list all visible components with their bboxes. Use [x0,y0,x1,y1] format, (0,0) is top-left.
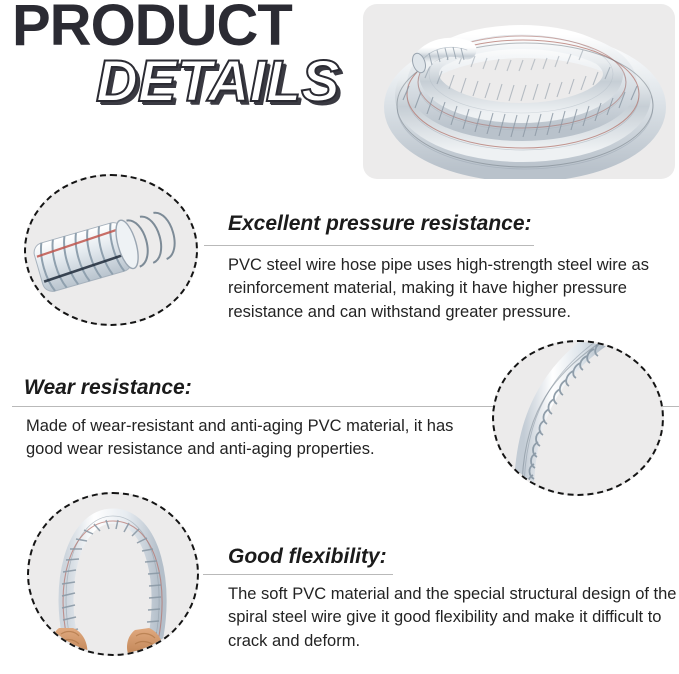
product-details-infographic: PRODUCT DETAILS [0,0,679,674]
inset-good-flexibility [27,492,199,656]
section-heading-wear: Wear resistance: [24,376,192,400]
page-title-details: DETAILS [96,52,340,113]
section-rule-flexibility [203,574,393,575]
section-body-pressure: PVC steel wire hose pipe uses high-stren… [228,254,679,324]
section-body-flexibility: The soft PVC material and the special st… [228,583,679,653]
hose-end-spiral-illustration [26,176,196,324]
section-body-wear: Made of wear-resistant and anti-aging PV… [26,415,478,462]
inset-wear-resistance [492,340,664,496]
curved-hose-illustration [494,342,662,494]
section-heading-flexibility: Good flexibility: [228,545,387,569]
hero-product-image [363,4,675,179]
section-rule-pressure [204,245,534,246]
hands-bending-hose-illustration [29,494,197,654]
inset-pressure-resistance [24,174,198,326]
coiled-hose-illustration [363,4,675,179]
section-rule-wear [12,406,504,407]
section-heading-pressure: Excellent pressure resistance: [228,212,532,236]
left-hand [51,628,87,654]
